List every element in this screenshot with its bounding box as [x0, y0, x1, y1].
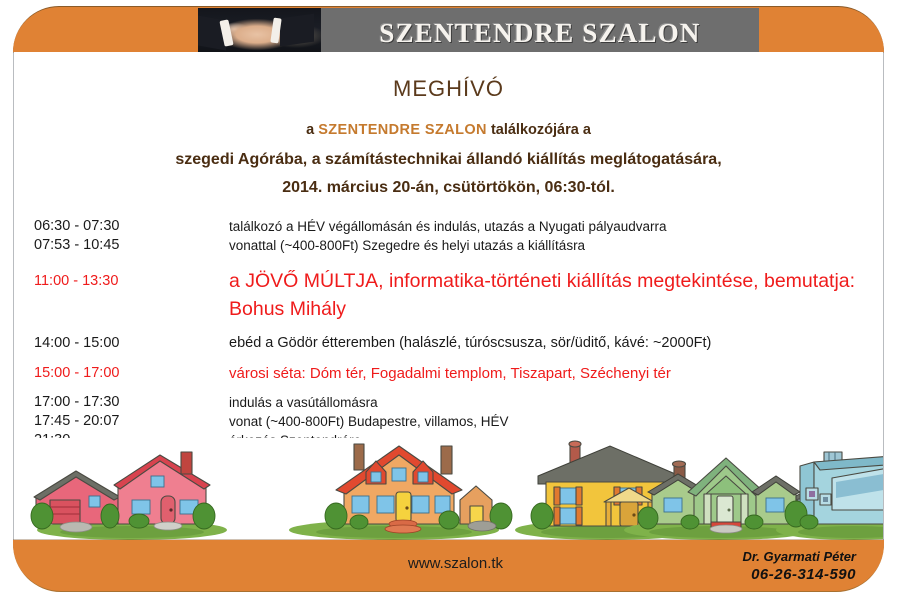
schedule-description: városi séta: Dóm tér, Fogadalmi templom,… [229, 362, 864, 385]
contact-signature: Dr. Gyarmati Péter 06-26-314-590 [743, 548, 856, 584]
schedule-row-highlight: 11:00 - 13:30 a JÖVŐ MÚLTJA, informatika… [34, 267, 864, 323]
organization-title: SZENTENDRE SZALON [379, 18, 700, 49]
schedule-description: vonat (~400-800Ft) Budapestre, villamos,… [229, 412, 864, 431]
schedule-row-highlight: 15:00 - 17:00 városi séta: Dóm tér, Foga… [34, 362, 864, 385]
contact-name: Dr. Gyarmati Péter [743, 548, 856, 566]
schedule-time: 17:00 - 17:30 [34, 393, 229, 412]
schedule-row: 17:00 - 17:30 indulás a vasútállomásra [34, 393, 864, 412]
schedule-description: vonattal (~400-800Ft) Szegedre és helyi … [229, 236, 864, 255]
intro-line-3: 2014. március 20-án, csütörtökön, 06:30-… [14, 175, 883, 200]
contact-phone: 06-26-314-590 [743, 566, 856, 584]
intro-line-1-pre: a [306, 122, 318, 138]
footer-band: www.szalon.tk Dr. Gyarmati Péter 06-26-3… [13, 540, 884, 592]
schedule-description: ebéd a Gödör étteremben (halászlé, túrós… [229, 332, 864, 355]
intro-line-1: a SZENTENDRE SZALON találkozójára a [14, 118, 883, 143]
header-band: SZENTENDRE SZALON [13, 6, 884, 52]
schedule-time: 17:45 - 20:07 [34, 412, 229, 431]
page-title: MEGHÍVÓ [14, 76, 883, 102]
intro-line-2: szegedi Agórába, a számítástechnikai áll… [14, 147, 883, 172]
schedule-description: a JÖVŐ MÚLTJA, informatika-történeti kiá… [229, 267, 864, 323]
schedule-time: 06:30 - 07:30 [34, 217, 229, 236]
invitation-intro: a SZENTENDRE SZALON találkozójára a szeg… [14, 118, 883, 200]
intro-line-1-post: találkozójára a [487, 122, 591, 138]
schedule-description: találkozó a HÉV végállomásán és indulás,… [229, 217, 864, 236]
house-pink-bungalow [31, 452, 227, 540]
schedule-time: 07:53 - 10:45 [34, 236, 229, 255]
schedule-row: 17:45 - 20:07 vonat (~400-800Ft) Budapes… [34, 412, 864, 431]
schedule-row: 07:53 - 10:45 vonattal (~400-800Ft) Szeg… [34, 236, 864, 255]
schedule-time: 14:00 - 15:00 [34, 332, 229, 355]
website-link[interactable]: www.szalon.tk [408, 555, 503, 572]
schedule-list: 06:30 - 07:30 találkozó a HÉV végállomás… [34, 217, 864, 450]
house-orange-cottage [289, 444, 512, 540]
suit-sleeve-right [280, 14, 314, 47]
intro-line-1-accent: SZENTENDRE SZALON [318, 122, 487, 138]
frame-right-border [883, 48, 884, 548]
invitation-poster: SZENTENDRE SZALON MEGHÍVÓ a SZENTENDRE S… [0, 0, 897, 600]
schedule-description: indulás a vasútállomásra [229, 393, 864, 412]
schedule-row: 06:30 - 07:30 találkozó a HÉV végállomás… [34, 217, 864, 236]
schedule-time: 15:00 - 17:00 [34, 362, 229, 385]
row-of-houses-illustration: .ol{stroke:#4a4a42;stroke-width:1.1;stro… [14, 438, 883, 540]
schedule-time: 11:00 - 13:30 [34, 267, 229, 295]
schedule-row: 14:00 - 15:00 ebéd a Gödör étteremben (h… [34, 332, 864, 355]
